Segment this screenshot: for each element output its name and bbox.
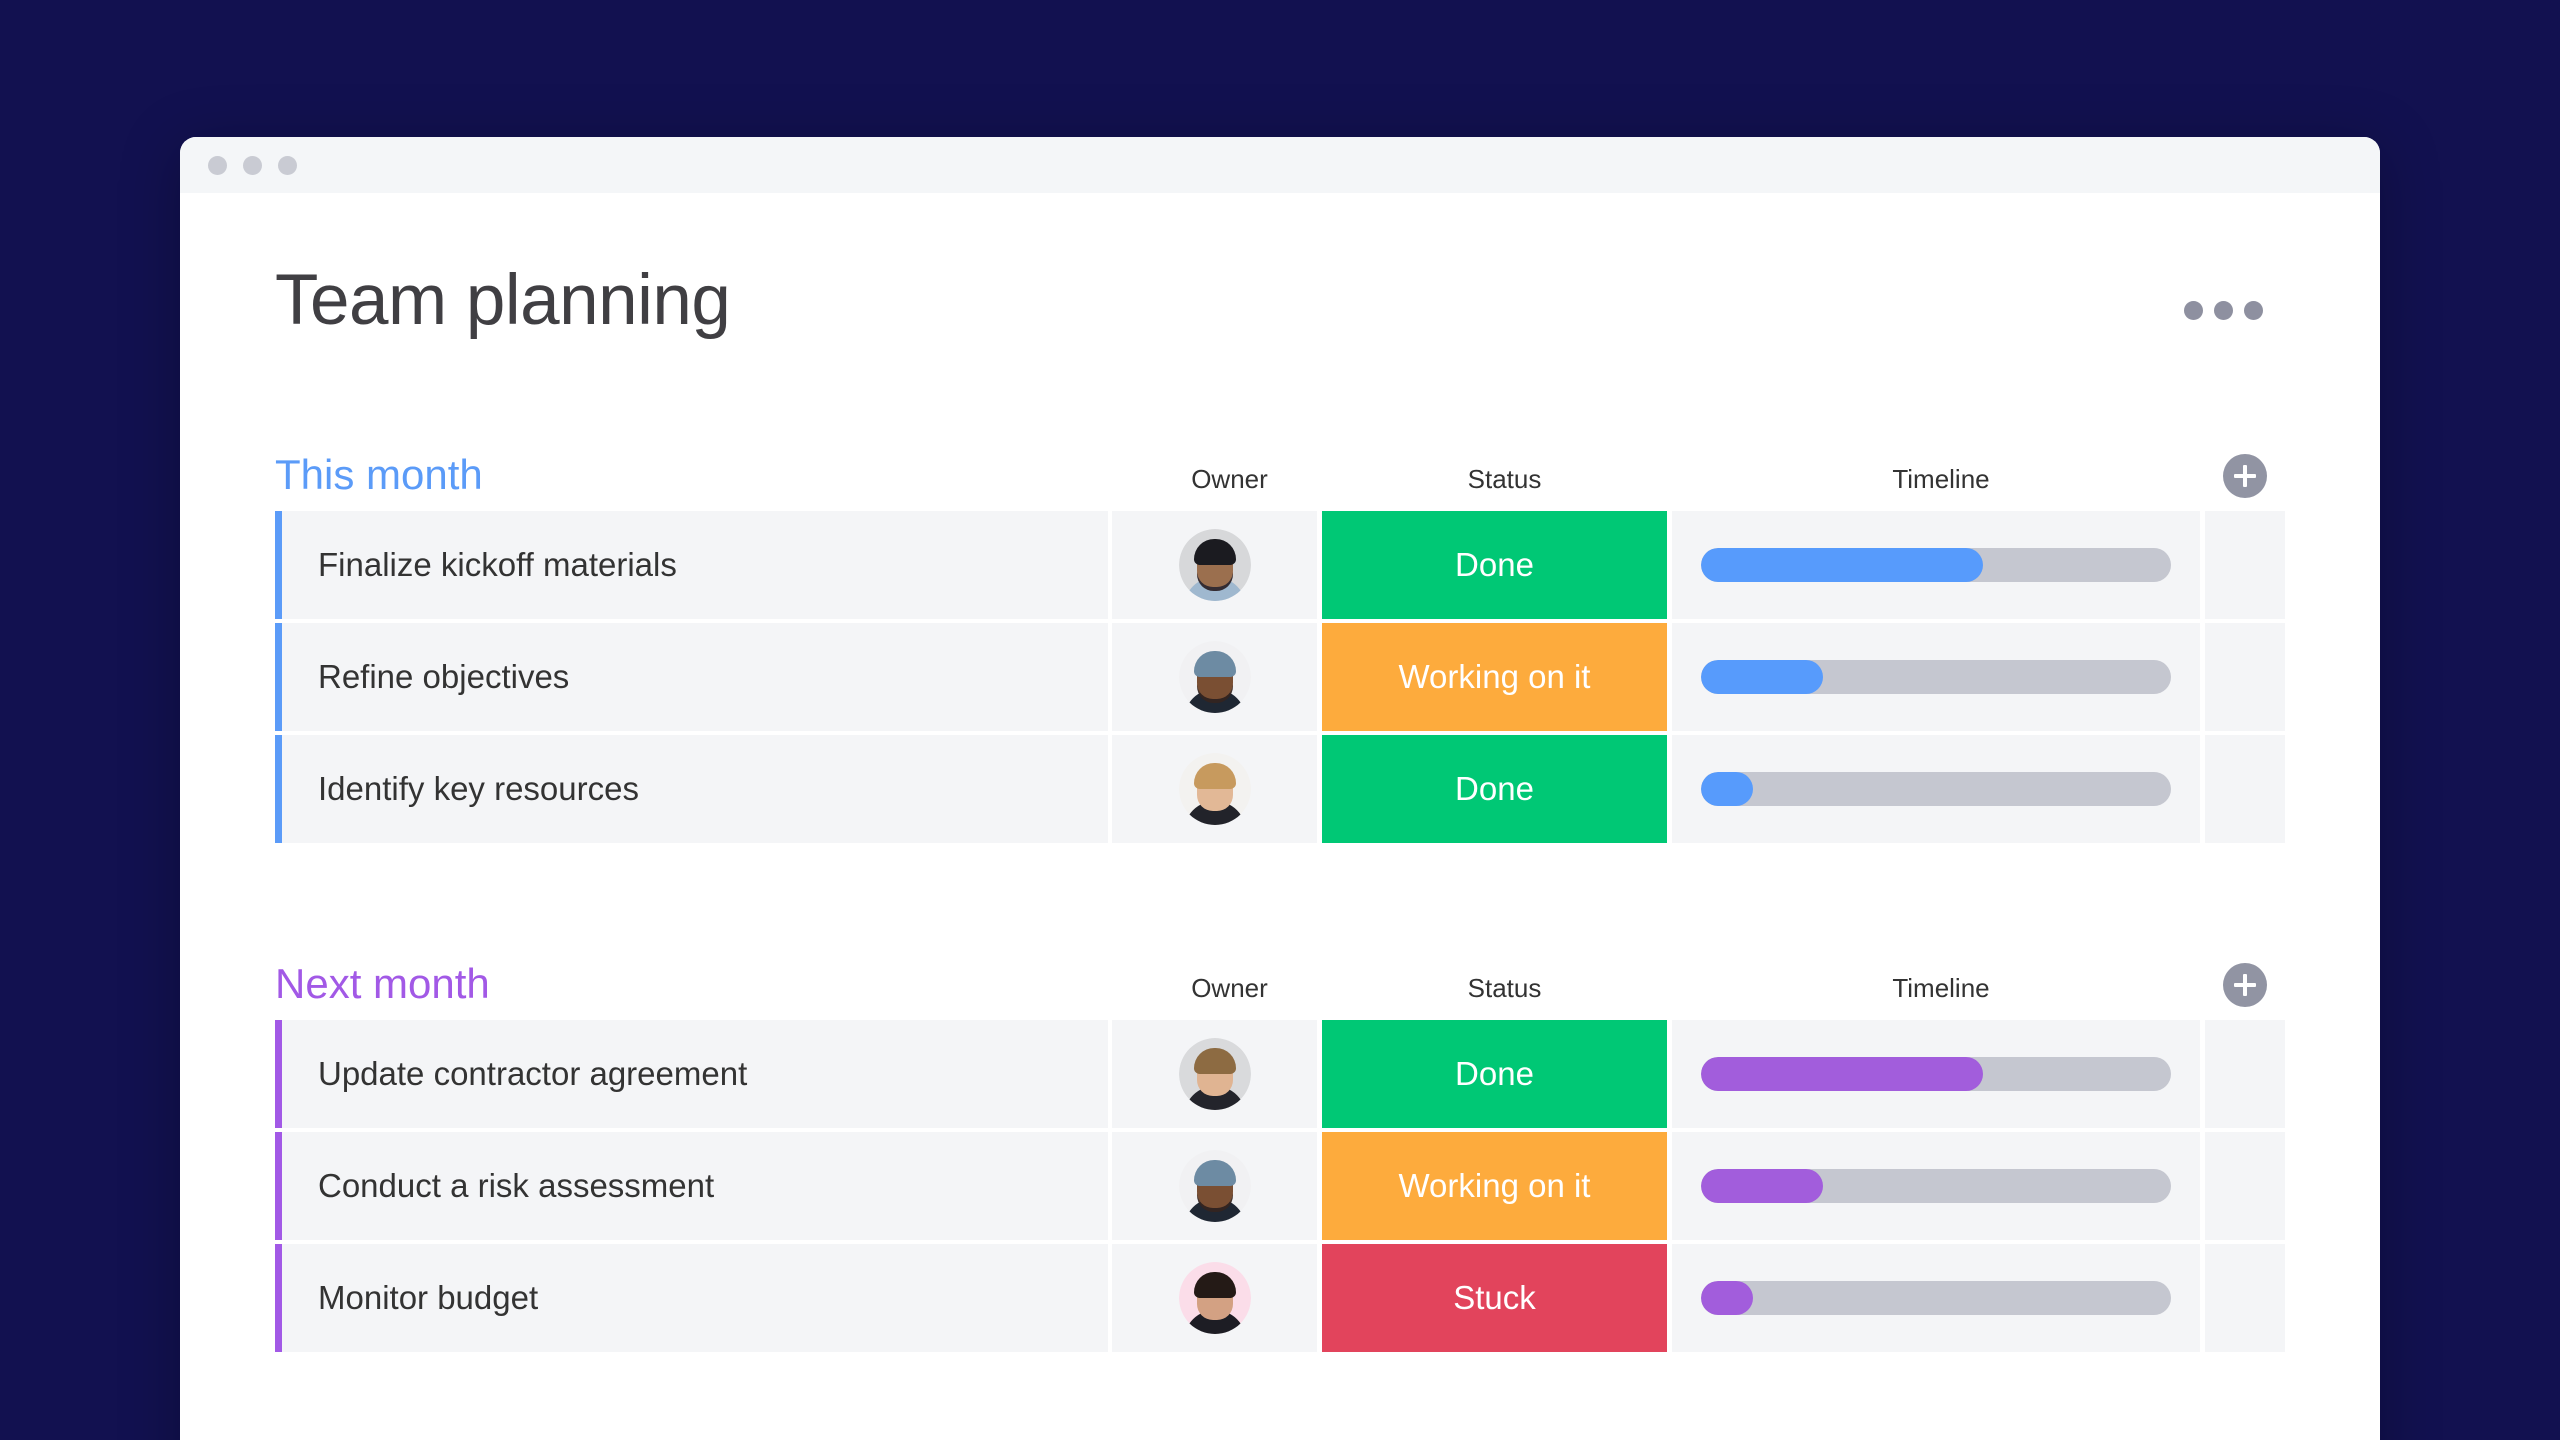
task-name-cell[interactable]: Refine objectives bbox=[275, 623, 1108, 731]
owner-cell[interactable] bbox=[1112, 1020, 1317, 1128]
progress-fill bbox=[1701, 772, 1753, 806]
progress-track[interactable] bbox=[1701, 1057, 2171, 1091]
status-cell[interactable]: Done bbox=[1322, 735, 1667, 843]
task-name-cell[interactable]: Finalize kickoff materials bbox=[275, 511, 1108, 619]
traffic-light-maximize-icon[interactable] bbox=[278, 156, 297, 175]
task-name-label: Monitor budget bbox=[318, 1279, 538, 1317]
column-header-timeline[interactable]: Timeline bbox=[1677, 466, 2205, 496]
page-background: Team planning This month Owner Status Ti… bbox=[0, 0, 2560, 1440]
status-badge: Working on it bbox=[1399, 658, 1591, 696]
kebab-dot bbox=[2244, 301, 2263, 320]
status-badge: Working on it bbox=[1399, 1167, 1591, 1205]
status-cell[interactable]: Working on it bbox=[1322, 623, 1667, 731]
progress-track[interactable] bbox=[1701, 772, 2171, 806]
owner-cell[interactable] bbox=[1112, 1132, 1317, 1240]
column-header-status[interactable]: Status bbox=[1332, 975, 1677, 1005]
window-titlebar bbox=[180, 137, 2380, 193]
status-cell[interactable]: Done bbox=[1322, 1020, 1667, 1128]
owner-cell[interactable] bbox=[1112, 511, 1317, 619]
timeline-cell[interactable] bbox=[1672, 1020, 2200, 1128]
progress-fill bbox=[1701, 1281, 1753, 1315]
board-content: Team planning This month Owner Status Ti… bbox=[180, 193, 2380, 1352]
page-header: Team planning bbox=[275, 193, 2285, 336]
timeline-cell[interactable] bbox=[1672, 511, 2200, 619]
row-extra-cell[interactable] bbox=[2205, 1244, 2285, 1352]
task-name-cell[interactable]: Update contractor agreement bbox=[275, 1020, 1108, 1128]
timeline-cell[interactable] bbox=[1672, 735, 2200, 843]
page-title: Team planning bbox=[275, 265, 730, 336]
status-badge: Stuck bbox=[1453, 1279, 1536, 1317]
owner-avatar-2[interactable] bbox=[1179, 641, 1251, 713]
progress-track[interactable] bbox=[1701, 1169, 2171, 1203]
progress-track[interactable] bbox=[1701, 548, 2171, 582]
row-extra-cell[interactable] bbox=[2205, 1020, 2285, 1128]
task-name-cell[interactable]: Identify key resources bbox=[275, 735, 1108, 843]
owner-cell[interactable] bbox=[1112, 1244, 1317, 1352]
table-row[interactable]: Update contractor agreement Done bbox=[275, 1020, 2285, 1128]
owner-avatar-1[interactable] bbox=[1179, 529, 1251, 601]
status-cell[interactable]: Working on it bbox=[1322, 1132, 1667, 1240]
group-header: This month Owner Status Timeline bbox=[275, 446, 2285, 498]
progress-fill bbox=[1701, 660, 1823, 694]
table-row[interactable]: Conduct a risk assessment Working on it bbox=[275, 1132, 2285, 1240]
row-extra-cell[interactable] bbox=[2205, 1132, 2285, 1240]
task-name-cell[interactable]: Monitor budget bbox=[275, 1244, 1108, 1352]
owner-cell[interactable] bbox=[1112, 623, 1317, 731]
owner-cell[interactable] bbox=[1112, 735, 1317, 843]
task-name-label: Refine objectives bbox=[318, 658, 569, 696]
progress-fill bbox=[1701, 548, 1983, 582]
group-rows: Finalize kickoff materials Done Refine o… bbox=[275, 511, 2285, 843]
status-cell[interactable]: Stuck bbox=[1322, 1244, 1667, 1352]
group-this-month: This month Owner Status Timeline Finaliz… bbox=[275, 446, 2285, 843]
kebab-dot bbox=[2214, 301, 2233, 320]
column-header-owner[interactable]: Owner bbox=[1127, 975, 1332, 1005]
task-name-label: Conduct a risk assessment bbox=[318, 1167, 714, 1205]
timeline-cell[interactable] bbox=[1672, 1132, 2200, 1240]
column-header-add bbox=[2205, 963, 2285, 1005]
owner-avatar-6[interactable] bbox=[1179, 1262, 1251, 1334]
table-row[interactable]: Refine objectives Working on it bbox=[275, 623, 2285, 731]
status-cell[interactable]: Done bbox=[1322, 511, 1667, 619]
group-title[interactable]: Next month bbox=[275, 963, 490, 1005]
timeline-cell[interactable] bbox=[1672, 623, 2200, 731]
task-name-cell[interactable]: Conduct a risk assessment bbox=[275, 1132, 1108, 1240]
status-badge: Done bbox=[1455, 546, 1534, 584]
task-name-label: Update contractor agreement bbox=[318, 1055, 747, 1093]
status-badge: Done bbox=[1455, 770, 1534, 808]
table-row[interactable]: Identify key resources Done bbox=[275, 735, 2285, 843]
task-name-label: Finalize kickoff materials bbox=[318, 546, 677, 584]
group-list: This month Owner Status Timeline Finaliz… bbox=[275, 446, 2285, 1352]
column-header-timeline[interactable]: Timeline bbox=[1677, 975, 2205, 1005]
progress-track[interactable] bbox=[1701, 1281, 2171, 1315]
owner-avatar-3[interactable] bbox=[1179, 753, 1251, 825]
add-column-button[interactable] bbox=[2223, 963, 2267, 1007]
owner-avatar-4[interactable] bbox=[1179, 1038, 1251, 1110]
task-name-label: Identify key resources bbox=[318, 770, 639, 808]
row-extra-cell[interactable] bbox=[2205, 735, 2285, 843]
traffic-light-close-icon[interactable] bbox=[208, 156, 227, 175]
progress-fill bbox=[1701, 1169, 1823, 1203]
table-row[interactable]: Monitor budget Stuck bbox=[275, 1244, 2285, 1352]
kebab-menu-icon[interactable] bbox=[2184, 265, 2285, 320]
table-row[interactable]: Finalize kickoff materials Done bbox=[275, 511, 2285, 619]
add-column-button[interactable] bbox=[2223, 454, 2267, 498]
group-rows: Update contractor agreement Done Conduct… bbox=[275, 1020, 2285, 1352]
group-title[interactable]: This month bbox=[275, 454, 483, 496]
kebab-dot bbox=[2184, 301, 2203, 320]
row-extra-cell[interactable] bbox=[2205, 623, 2285, 731]
status-badge: Done bbox=[1455, 1055, 1534, 1093]
column-header-owner[interactable]: Owner bbox=[1127, 466, 1332, 496]
traffic-light-minimize-icon[interactable] bbox=[243, 156, 262, 175]
row-extra-cell[interactable] bbox=[2205, 511, 2285, 619]
progress-track[interactable] bbox=[1701, 660, 2171, 694]
column-header-status[interactable]: Status bbox=[1332, 466, 1677, 496]
owner-avatar-5[interactable] bbox=[1179, 1150, 1251, 1222]
progress-fill bbox=[1701, 1057, 1983, 1091]
timeline-cell[interactable] bbox=[1672, 1244, 2200, 1352]
browser-window: Team planning This month Owner Status Ti… bbox=[180, 137, 2380, 1440]
group-next-month: Next month Owner Status Timeline Update … bbox=[275, 955, 2285, 1352]
group-header: Next month Owner Status Timeline bbox=[275, 955, 2285, 1007]
column-header-add bbox=[2205, 454, 2285, 496]
